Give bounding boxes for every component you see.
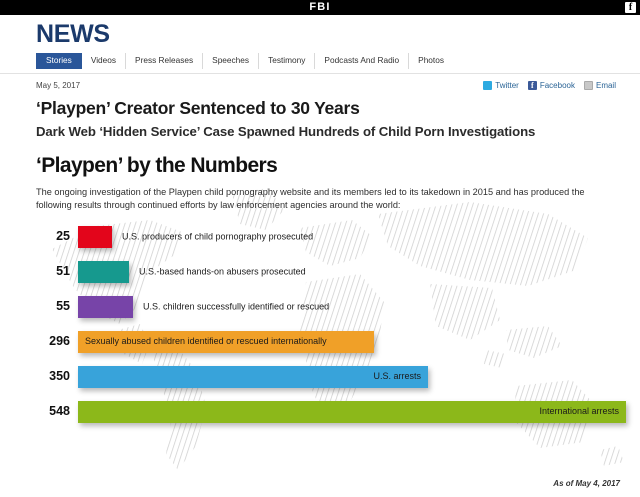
share-label: Twitter [495,81,519,90]
nav-item-podcasts-and-radio[interactable]: Podcasts And Radio [315,53,409,69]
bar: International arrests [78,401,626,423]
infographic-lede: The ongoing investigation of the Playpen… [36,186,596,213]
bar-label: U.S.-based hands-on abusers prosecuted [139,267,306,276]
bar-row: 296Sexually abused children identified o… [36,331,626,353]
bar [78,296,133,318]
bar-track: International arrests [78,401,626,423]
infographic: ‘Playpen’ by the Numbers The ongoing inv… [0,154,640,492]
bar-track: U.S.-based hands-on abusers prosecuted [78,261,626,283]
bar-row: 25U.S. producers of child pornography pr… [36,226,626,248]
infographic-title: ‘Playpen’ by the Numbers [36,154,626,177]
page-title: ‘Playpen’ Creator Sentenced to 30 Years [36,98,618,118]
bar-track: U.S. arrests [78,366,626,388]
bar-value: 55 [36,300,78,313]
page-root: FBI f NEWS StoriesVideosPress ReleasesSp… [0,0,640,497]
bar-value: 296 [36,335,78,348]
bar-label: International arrests [532,407,626,416]
share-label: Facebook [540,81,575,90]
article-header: May 5, 2017 TwitterfFacebookEmail ‘Playp… [0,74,640,140]
share-label: Email [596,81,616,90]
site-title: FBI [309,2,330,13]
bar: U.S. arrests [78,366,428,388]
nav-item-speeches[interactable]: Speeches [203,53,259,69]
nav-item-press-releases[interactable]: Press Releases [126,53,203,69]
bar-label: Sexually abused children identified or r… [78,337,334,346]
page-subtitle: Dark Web ‘Hidden Service’ Case Spawned H… [36,124,618,140]
infographic-footnote: As of May 4, 2017 [553,479,620,488]
bar-row: 548International arrests [36,401,626,423]
share-bar: TwitterfFacebookEmail [483,81,616,90]
share-email-button[interactable]: Email [584,81,616,90]
nav-item-videos[interactable]: Videos [82,53,126,69]
bar-track: Sexually abused children identified or r… [78,331,626,353]
bar: Sexually abused children identified or r… [78,331,374,353]
news-logo[interactable]: NEWS [36,21,640,48]
bar-label: U.S. children successfully identified or… [143,302,329,311]
bar-label: U.S. producers of child pornography pros… [122,232,313,241]
bar-track: U.S. children successfully identified or… [78,296,626,318]
nav-item-stories[interactable]: Stories [36,53,82,69]
bar [78,226,112,248]
nav-item-photos[interactable]: Photos [409,53,453,69]
bar-label: U.S. arrests [366,372,428,381]
bar-track: U.S. producers of child pornography pros… [78,226,626,248]
facebook-icon[interactable]: f [625,2,636,13]
news-header: NEWS [0,15,640,50]
bar-value: 25 [36,230,78,243]
bar-value: 548 [36,405,78,418]
bar-row: 51U.S.-based hands-on abusers prosecuted [36,261,626,283]
bar-row: 55U.S. children successfully identified … [36,296,626,318]
email-icon [584,81,593,90]
bar-chart: 25U.S. producers of child pornography pr… [36,226,626,423]
facebook-icon: f [528,81,537,90]
nav-item-testimony[interactable]: Testimony [259,53,315,69]
twitter-icon [483,81,492,90]
bar-value: 350 [36,370,78,383]
share-twitter-button[interactable]: Twitter [483,81,519,90]
bar [78,261,129,283]
site-topbar: FBI f [0,0,640,15]
bar-row: 350U.S. arrests [36,366,626,388]
bar-value: 51 [36,265,78,278]
share-facebook-button[interactable]: fFacebook [528,81,575,90]
section-nav: StoriesVideosPress ReleasesSpeechesTesti… [0,50,640,74]
